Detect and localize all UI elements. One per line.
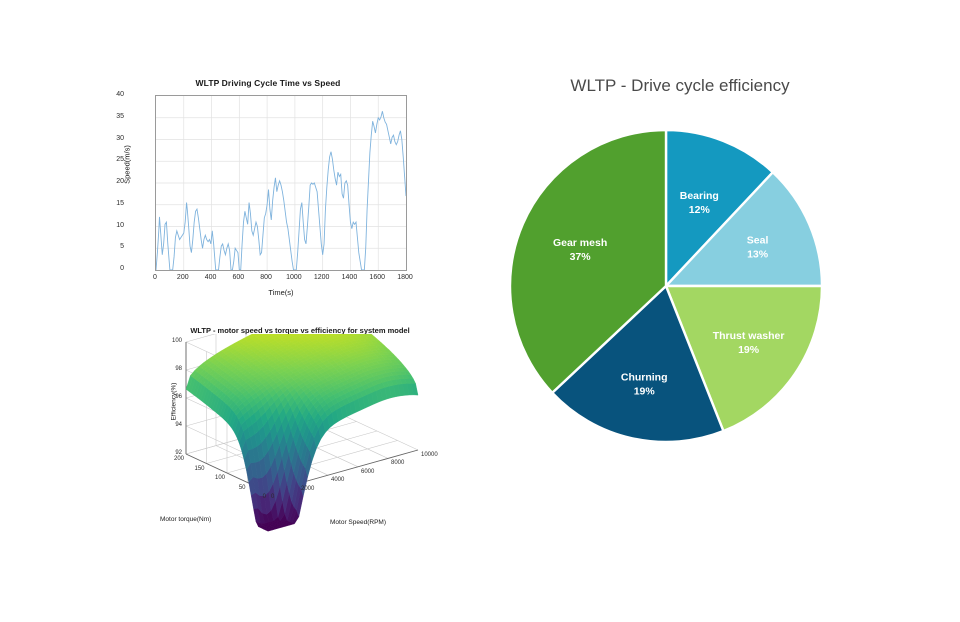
surface-chart-z-tick: 98 [164,366,182,372]
surface-chart-x-tick: 0 [248,494,266,500]
line-chart-y-tick: 5 [84,243,124,250]
surface-chart-z-tick: 96 [164,394,182,400]
pie-chart-title: WLTP - Drive cycle efficiency [470,76,890,96]
line-chart-y-tick: 15 [84,200,124,207]
pie-chart-svg: Bearing12%Seal13%Thrust washer19%Churnin… [470,118,890,458]
pie-slice-percent: 12% [689,204,711,216]
pie-slice-percent: 37% [570,251,592,263]
pie-chart-panel: WLTP - Drive cycle efficiency Bearing12%… [470,76,890,546]
surface-chart-z-tick: 100 [164,338,182,344]
surface-chart-panel: WLTP - motor speed vs torque vs efficien… [150,326,450,541]
pie-slice-percent: 13% [747,248,769,260]
surface-chart-x-tick: 200 [166,456,184,462]
pie-slice-label: Thrust washer [713,330,785,342]
surface-chart-y-tick: 2000 [301,486,314,492]
pie-slice-label: Gear mesh [553,237,607,249]
surface-chart-x-tick: 100 [207,475,225,481]
surface-chart-x-tick: 50 [228,485,246,491]
line-chart-x-axis-label: Time(s) [155,288,407,297]
line-chart-y-tick: 0 [84,265,124,272]
pie-slice-label: Churning [621,371,668,383]
surface-chart-y-tick: 0 [271,494,274,500]
line-chart-y-tick: 25 [84,156,124,163]
line-chart-plot-area [155,95,407,271]
line-chart-y-tick: 10 [84,222,124,229]
surface-chart-x-tick: 150 [187,466,205,472]
line-chart-panel: WLTP Driving Cycle Time vs Speed Speed(m… [108,78,428,318]
surface-chart-y-tick: 10000 [421,452,438,458]
pie-slice-label: Seal [747,234,769,246]
pie-slice-percent: 19% [738,344,760,356]
surface-chart-y-tick: 6000 [361,469,374,475]
surface-chart-svg [150,334,450,534]
line-chart-x-tick: 1800 [385,274,425,281]
line-chart-svg [156,96,406,270]
line-chart-y-tick: 20 [84,178,124,185]
line-chart-y-tick: 35 [84,113,124,120]
pie-slice-percent: 19% [634,385,656,397]
line-chart-y-tick: 40 [84,91,124,98]
line-chart-title: WLTP Driving Cycle Time vs Speed [108,78,428,88]
line-chart-y-tick: 30 [84,135,124,142]
surface-chart-z-tick: 94 [164,422,182,428]
pie-slice-label: Bearing [680,190,719,202]
surface-chart-y-tick: 8000 [391,460,404,466]
surface-chart-y-tick: 4000 [331,477,344,483]
